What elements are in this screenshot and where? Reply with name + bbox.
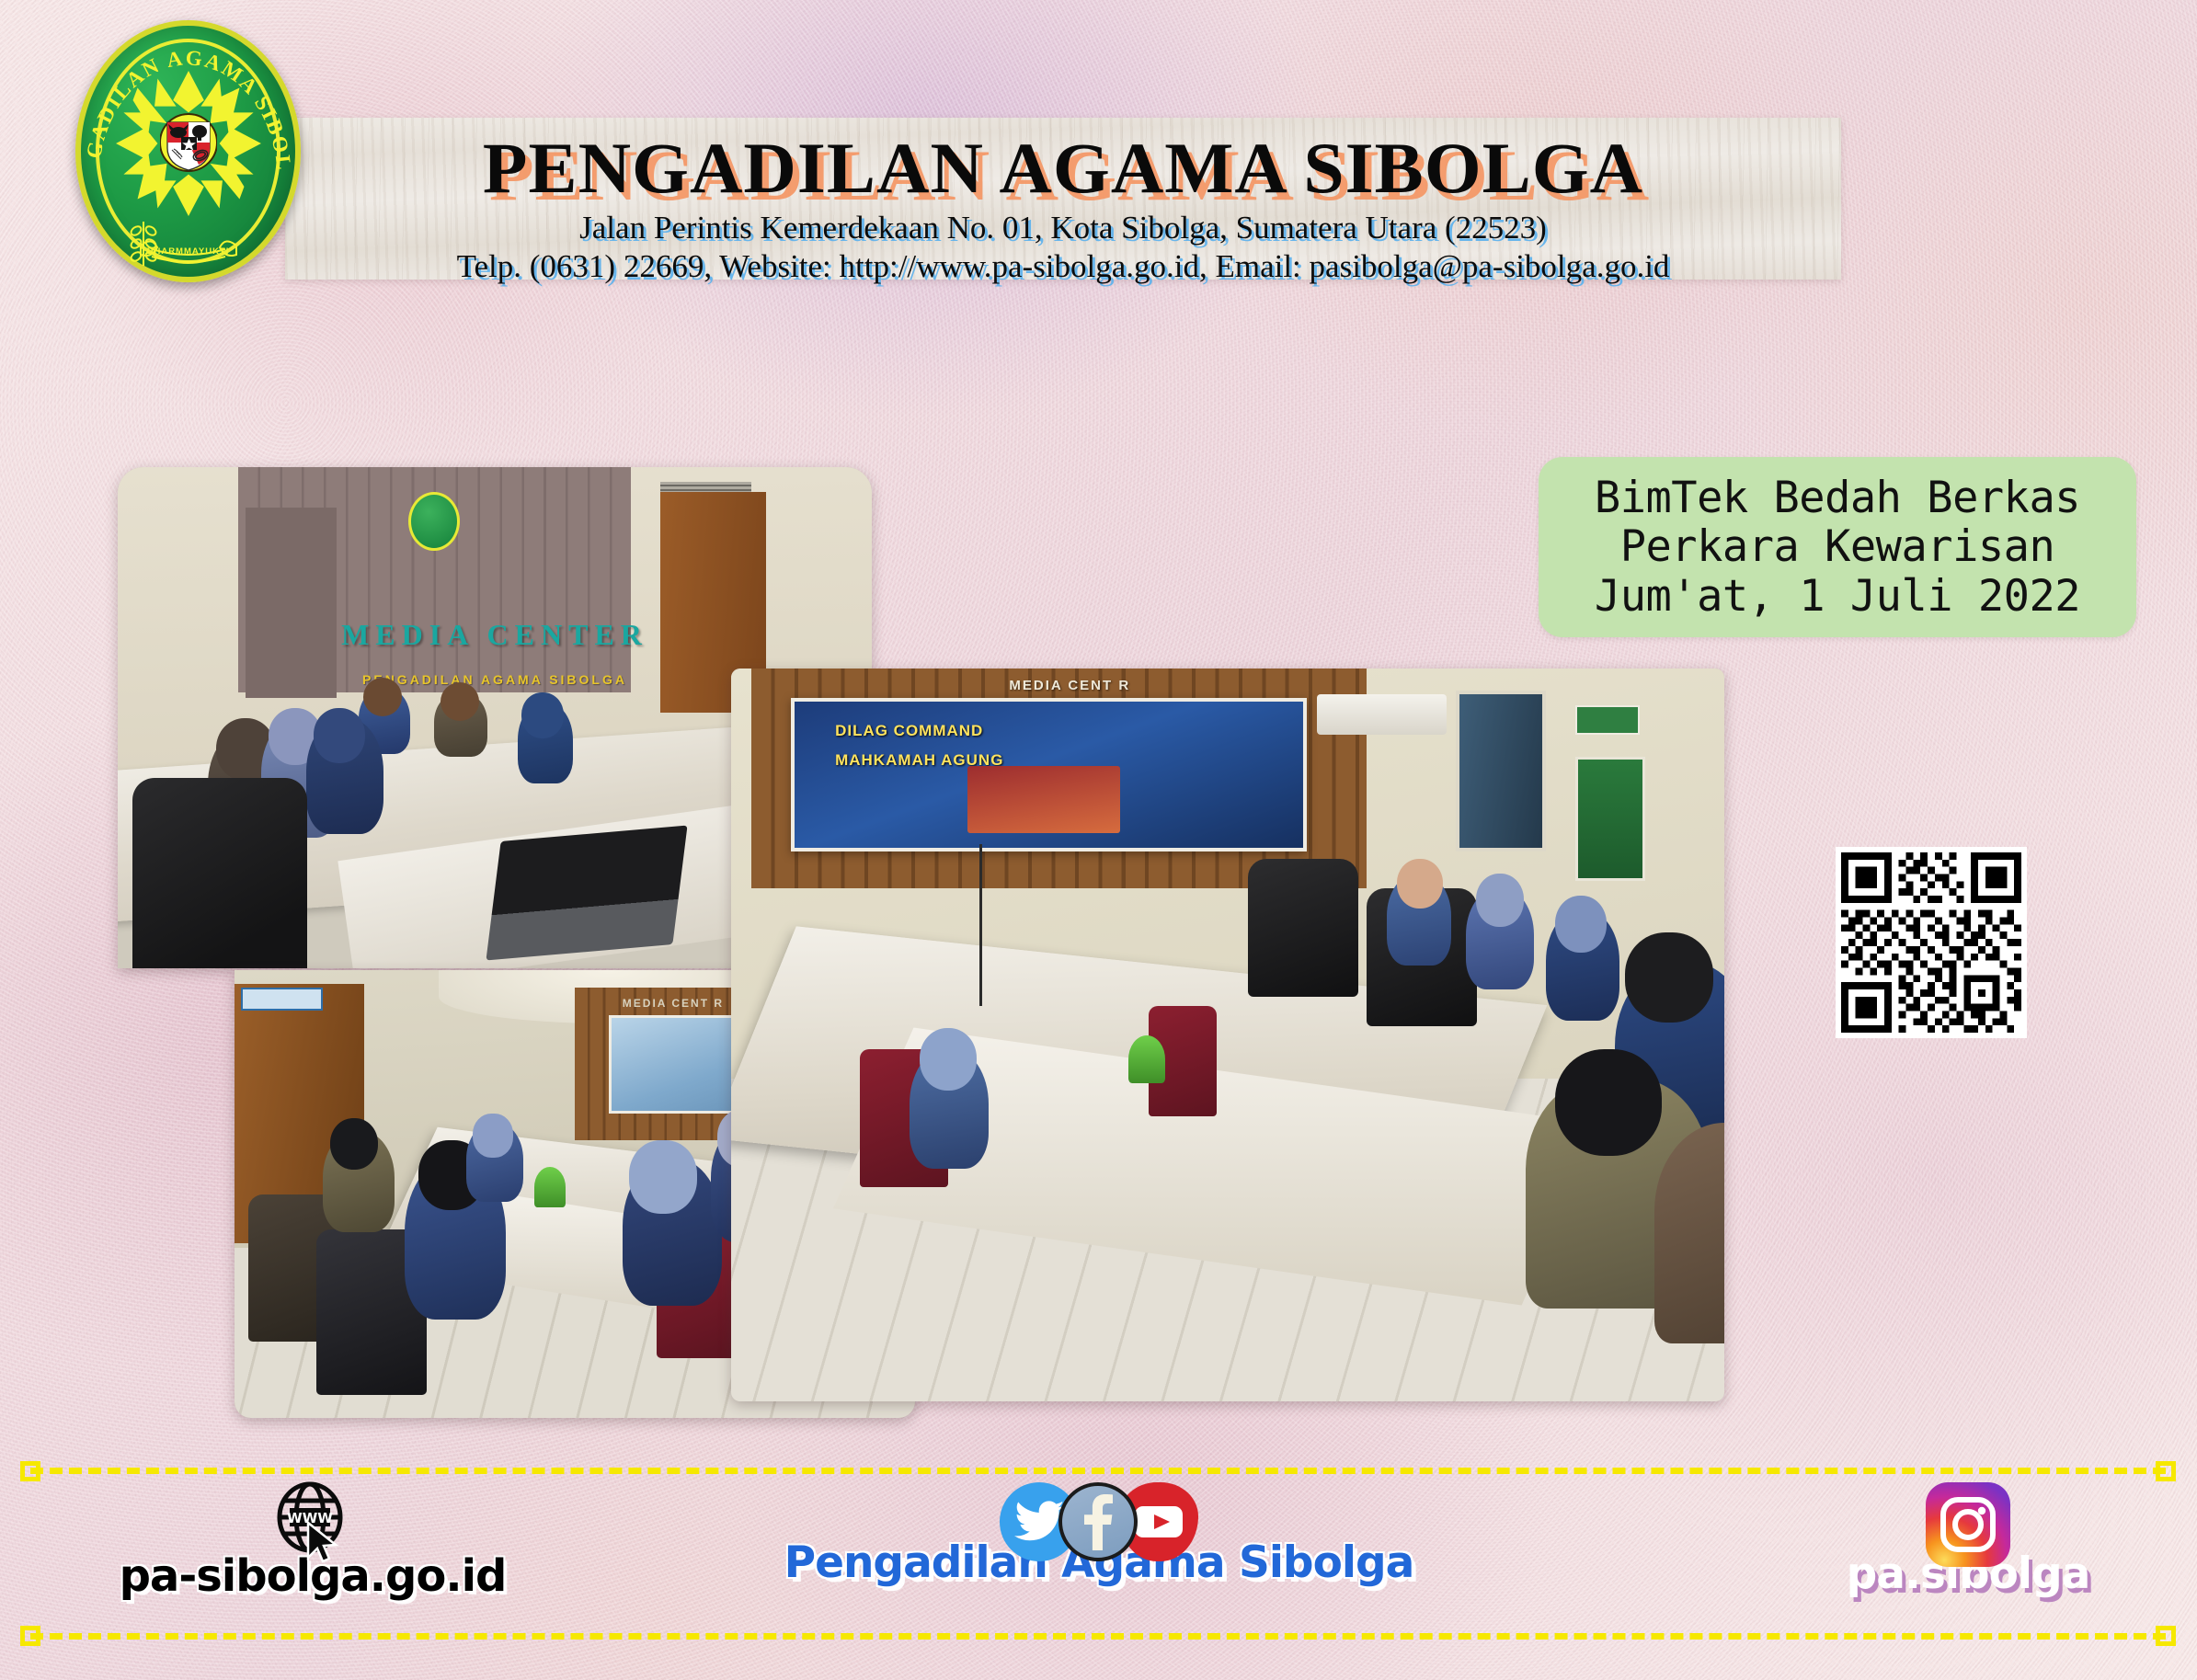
qr-code[interactable] [1836, 847, 2027, 1038]
projector-room-photo: DILAG COMMAND MAHKAMAH AGUNG MEDIA CENT … [731, 669, 1724, 1401]
laptop [486, 825, 687, 960]
event-title-line-2: Perkara Kewarisan [1620, 522, 2055, 571]
footer-social-block[interactable]: Pengadilan Agama Sibolga [777, 1482, 1421, 1588]
potted-plant [1128, 1035, 1165, 1083]
footer-instagram-block[interactable]: pa.sibolga [1766, 1482, 2170, 1599]
globe-www-icon: WWW [273, 1480, 352, 1565]
wall-poster [1575, 757, 1645, 881]
event-date: Jum'at, 1 Juli 2022 [1595, 572, 2080, 621]
media-center-sign: MEDIA CENTER [118, 618, 872, 652]
air-conditioner [1317, 694, 1446, 735]
room-door [1456, 691, 1545, 851]
frame-handle-top-left[interactable] [20, 1461, 40, 1481]
address-line-2: Telp. (0631) 22669, Website: http://www.… [285, 248, 1841, 285]
projection-screen: DILAG COMMAND MAHKAMAH AGUNG [791, 698, 1308, 851]
header-banner: PENGADILAN AGAMA SIBOLGA Jalan Perintis … [285, 118, 1841, 280]
instagram-icon[interactable] [1926, 1482, 2010, 1567]
court-logo: PENGADILAN AGAMA SIBOLGA [75, 20, 301, 282]
wall-emblem-icon [408, 492, 460, 551]
footer-website-block[interactable]: WWW pa-sibolga.go.id [55, 1480, 570, 1602]
wall-sign-media-center: MEDIA CENT R [623, 997, 724, 1010]
event-title-line-1: BimTek Bedah Berkas [1595, 474, 2080, 522]
office-chair [132, 778, 307, 968]
facebook-icon[interactable] [1058, 1482, 1138, 1561]
frame-handle-top-right[interactable] [2156, 1461, 2176, 1481]
camera-tripod [979, 844, 982, 1005]
wall-sign-media-center: MEDIA CENT R [1009, 678, 1130, 693]
logo-wheat-icon [125, 218, 162, 269]
address-line-1: Jalan Perintis Kemerdekaan No. 01, Kota … [285, 210, 1841, 246]
potted-plant [534, 1167, 566, 1207]
frame-handle-bottom-right[interactable] [2156, 1626, 2176, 1646]
event-badge: BimTek Bedah Berkas Perkara Kewarisan Ju… [1539, 457, 2136, 637]
logo-pancasila-shield-icon [160, 111, 217, 176]
door-nameplate [241, 988, 323, 1010]
frame-handle-bottom-left[interactable] [20, 1626, 40, 1646]
logo-banner-text: DHARMMAYUKTI [75, 246, 301, 257]
screen-text-line-1: DILAG COMMAND [835, 722, 983, 740]
page-title: PENGADILAN AGAMA SIBOLGA [269, 127, 1857, 210]
